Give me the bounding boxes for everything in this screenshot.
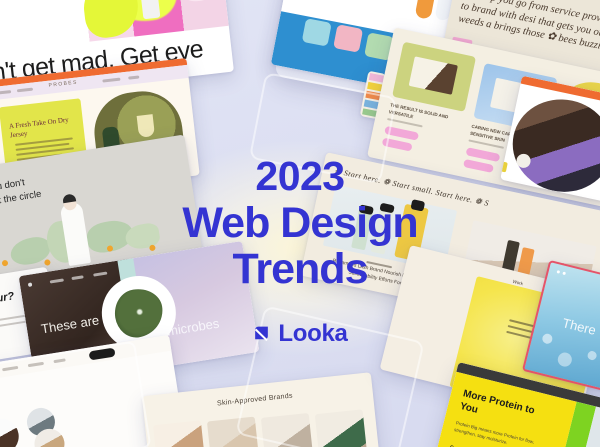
there-bubble-1 xyxy=(541,333,553,345)
there-bubble-2 xyxy=(556,351,573,368)
card-there-headline: There xyxy=(561,315,598,338)
portfolio-tile-2-tag-2[interactable] xyxy=(463,159,494,173)
chip-1 xyxy=(369,73,384,83)
pharmacy-tile-pink xyxy=(333,24,363,53)
there-dot-1 xyxy=(557,270,561,274)
there-bubble-3 xyxy=(587,350,598,361)
hero-image-canvas: on't get mad. Get eve PROBES A Fresh Tak… xyxy=(0,0,600,447)
frame-outline-left xyxy=(0,341,151,447)
circle-of-life-flower-4 xyxy=(149,244,156,251)
skin-approved-photo-1 xyxy=(153,420,207,447)
card-for-you-headline: for ur? xyxy=(0,290,15,307)
pharmacy-tile-blue xyxy=(302,18,332,47)
circle-of-life-flower-2 xyxy=(44,259,51,266)
circle-of-life-flower-1 xyxy=(2,260,9,267)
dry-jersey-wine-glass xyxy=(137,114,155,138)
chip-2 xyxy=(367,82,382,92)
there-dot-2 xyxy=(562,272,566,276)
card-circle-of-life-headline: Give away the things you don't need any … xyxy=(0,173,51,237)
